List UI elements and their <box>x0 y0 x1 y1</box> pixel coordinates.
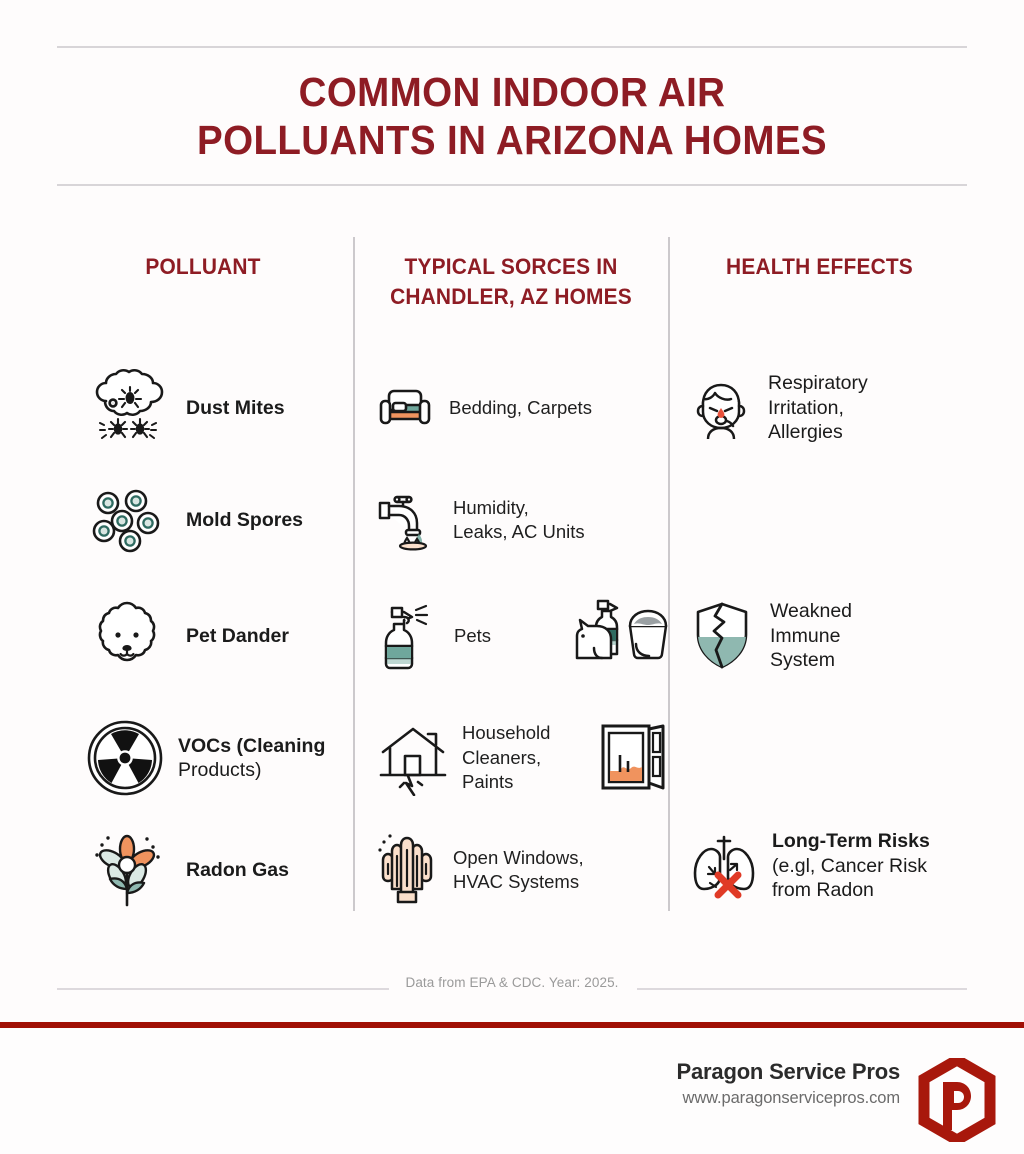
page-title: COMMON INDOOR AIR POLLUANTS IN ARIZONA H… <box>31 68 994 164</box>
bed-icon <box>376 379 434 437</box>
row-pollutant-label: Dust Mites <box>186 396 285 421</box>
row-pollutant-cell: Pet Dander <box>86 576 352 696</box>
row-effect-label: Long-Term Risks (e.gl, Cancer Risk from … <box>772 829 930 903</box>
row-effect-cell: Long-Term Risks (e.gl, Cancer Risk from … <box>690 816 970 916</box>
row-source-label: Open Windows, HVAC Systems <box>453 846 584 895</box>
brand-url[interactable]: www.paragonservicepros.com <box>677 1086 900 1110</box>
fluffy-dog-icon <box>86 595 168 677</box>
brand-accent-bar <box>0 1022 1024 1028</box>
title-rule-bottom <box>57 184 967 186</box>
row-pollutant-label: Mold Spores <box>186 508 303 533</box>
column-header-sources-line2: CHANDLER, AZ HOMES <box>364 282 659 312</box>
table-row: Dust Mites Bedding, Carpets <box>0 352 1024 464</box>
row-source-cell: Pets <box>378 576 668 696</box>
row-pollutant-cell: VOCs (Cleaning Products) <box>86 696 352 820</box>
brand-block: Paragon Service Pros www.paragonservicep… <box>677 1058 900 1110</box>
spray-bottle-icon <box>378 600 434 672</box>
row-source-cell: Open Windows, HVAC Systems <box>376 820 668 920</box>
dripping-faucet-icon <box>376 489 438 551</box>
table-row: VOCs (Cleaning Products) Household C <box>0 696 1024 820</box>
page-title-line2: POLLUANTS IN ARIZONA HOMES <box>31 116 994 164</box>
column-header-pollutant-line1: POLLUANT <box>64 252 341 282</box>
row-effect-label: Respiratory Irritation, Allergies <box>768 371 868 445</box>
brand-name: Paragon Service Pros <box>677 1058 900 1086</box>
row-pollutant-cell: Mold Spores <box>86 464 352 576</box>
row-effect-label: Weakned Immune System <box>770 599 852 673</box>
cat-cleaning-supplies-icon <box>572 596 668 676</box>
row-pollutant-label-main: VOCs (Cleaning <box>178 734 325 759</box>
row-pollutant-label: VOCs (Cleaning Products) <box>178 734 325 783</box>
row-effect-label-bold: Long-Term Risks <box>772 829 930 854</box>
column-header-effects: HEALTH EFFECTS <box>679 252 959 282</box>
page-title-line1: COMMON INDOOR AIR <box>31 68 994 116</box>
column-header-effects-line1: HEALTH EFFECTS <box>679 252 959 282</box>
row-effect-cell: Weakned Immune System <box>690 576 970 696</box>
title-rule-top <box>57 46 967 48</box>
row-source-label: Bedding, Carpets <box>449 396 592 421</box>
spores-icon <box>86 479 168 561</box>
row-effect-cell: Respiratory Irritation, Allergies <box>690 352 970 464</box>
infographic-sheet: COMMON INDOOR AIR POLLUANTS IN ARIZONA H… <box>0 0 1024 1022</box>
cracked-shield-icon <box>690 599 754 673</box>
cactus-icon <box>376 832 438 908</box>
row-source-label: Humidity, Leaks, AC Units <box>453 496 585 545</box>
row-source-label: Household Cleaners, Paints <box>462 721 550 795</box>
house-icon <box>378 720 448 796</box>
row-source-cell: Humidity, Leaks, AC Units <box>376 464 668 576</box>
row-effect-label-sub: (e.gl, Cancer Risk from Radon <box>772 854 930 903</box>
table-row: Mold Spores <box>0 464 1024 576</box>
sick-face-icon <box>690 377 752 439</box>
row-pollutant-label-sub: Products) <box>178 758 325 783</box>
column-header-sources: TYPICAL SORCES IN CHANDLER, AZ HOMES <box>364 252 659 312</box>
radiation-icon <box>86 719 164 797</box>
paragon-hexagon-p-logo <box>918 1058 996 1142</box>
flower-icon <box>86 829 168 911</box>
row-source-label: Pets <box>454 624 491 649</box>
row-pollutant-label: Pet Dander <box>186 624 289 649</box>
table-row: Radon Gas <box>0 820 1024 920</box>
lungs-warning-icon <box>690 831 758 901</box>
dust-cloud-mites-icon <box>86 367 168 449</box>
row-pollutant-label: Radon Gas <box>186 858 289 883</box>
footnote-rule-right <box>637 988 967 990</box>
row-source-cell: Bedding, Carpets <box>376 352 668 464</box>
row-source-cell: Household Cleaners, Paints <box>378 696 668 820</box>
column-header-sources-line1: TYPICAL SORCES IN <box>364 252 659 282</box>
column-header-pollutant: POLLUANT <box>64 252 341 282</box>
row-pollutant-cell: Radon Gas <box>86 820 352 920</box>
open-window-icon <box>598 721 668 795</box>
table-row: Pet Dander <box>0 576 1024 696</box>
row-pollutant-cell: Dust Mites <box>86 352 352 464</box>
